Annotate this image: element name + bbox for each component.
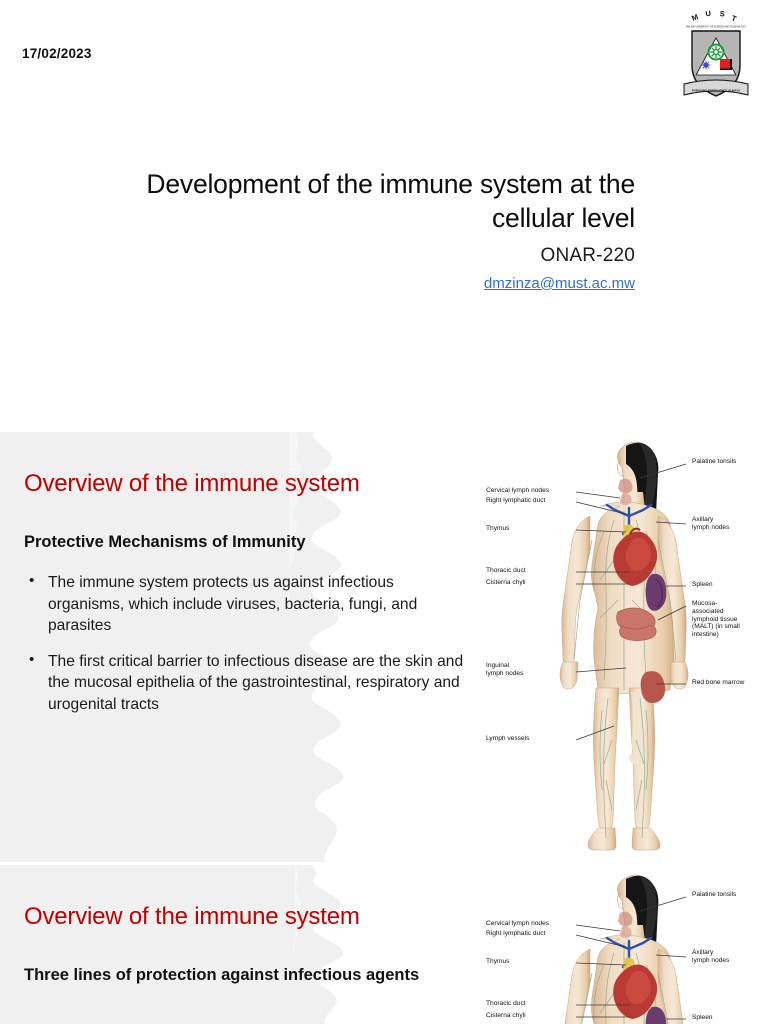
figure-label-cervical-lymph-nodes: Cervical lymph nodes xyxy=(486,487,549,495)
slide-subheading: Three lines of protection against infect… xyxy=(24,965,454,987)
email-link[interactable]: dmzinza@must.ac.mw xyxy=(484,275,635,292)
figure-label-cervical-lymph-nodes: Cervical lymph nodes xyxy=(486,920,549,928)
must-university-crest-logo: M U S T MALAWI UNIVERSITY OF SCIENCE AND… xyxy=(676,8,756,108)
svg-text:T: T xyxy=(730,13,738,23)
page-title: Development of the immune system at the … xyxy=(95,168,635,236)
lymphatic-system-figure: Palatine tonsils Axillary lymph nodes Sp… xyxy=(480,873,768,1024)
figure-label-cisterna-chyli: Cisterna chyli xyxy=(486,1012,526,1020)
title-block: Development of the immune system at the … xyxy=(95,168,635,293)
title-slide: 17/02/2023 M U S T MALAWI UNIVERSITY OF … xyxy=(0,0,768,432)
figure-label-right-lymphatic-duct: Right lymphatic duct xyxy=(486,497,545,505)
figure-label-lymph-vessels: Lymph vessels xyxy=(486,735,529,743)
slide-overview-three-lines: Overview of the immune system Three line… xyxy=(0,865,768,1024)
figure-label-malt: Mucosa- associated lymphoid tissue (MALT… xyxy=(692,600,740,639)
figure-label-inguinal-lymph-nodes: Inguinal lymph nodes xyxy=(486,662,523,678)
slide-overview-protective-mechanisms: Overview of the immune system Protective… xyxy=(0,432,768,862)
crest-letters: M U S T xyxy=(690,9,738,24)
svg-text:PURSUING EXCELLENCE ALWAYS: PURSUING EXCELLENCE ALWAYS xyxy=(692,89,740,93)
slide-heading: Overview of the immune system xyxy=(24,470,360,498)
figure-label-palatine-tonsils: Palatine tonsils xyxy=(692,891,736,899)
list-item: The first critical barrier to infectious… xyxy=(22,651,474,716)
crest-book-emblem xyxy=(720,59,732,70)
crest-atom-emblem xyxy=(702,61,711,70)
svg-text:U: U xyxy=(705,9,712,19)
lymphatic-system-figure: Palatine tonsils Axillary lymph nodes Sp… xyxy=(480,440,768,860)
list-item: The immune system protects us against in… xyxy=(22,572,474,637)
slide-subheading: Protective Mechanisms of Immunity xyxy=(24,532,444,554)
slide-date: 17/02/2023 xyxy=(22,46,92,61)
figure-label-spleen: Spleen xyxy=(692,1014,713,1022)
figure-label-thoracic-duct: Thoracic duct xyxy=(486,1000,526,1008)
figure-label-red-bone-marrow: Red bone marrow xyxy=(692,679,744,687)
slide-heading: Overview of the immune system xyxy=(24,903,360,931)
body-illustration xyxy=(562,875,687,1024)
figure-label-cisterna-chyli: Cisterna chyli xyxy=(486,579,526,587)
figure-label-thoracic-duct: Thoracic duct xyxy=(486,567,526,575)
figure-label-thymus: Thymus xyxy=(486,958,509,966)
figure-label-axillary-lymph-nodes: Axillary lymph nodes xyxy=(692,516,729,532)
figure-label-thymus: Thymus xyxy=(486,525,509,533)
body-illustration xyxy=(560,442,688,850)
course-code: ONAR-220 xyxy=(95,245,635,267)
svg-text:S: S xyxy=(719,9,725,18)
bullet-list: The immune system protects us against in… xyxy=(22,572,474,729)
svg-text:MALAWI UNIVERSITY OF SCIENCE A: MALAWI UNIVERSITY OF SCIENCE AND TECHNOL… xyxy=(686,26,747,29)
figure-label-palatine-tonsils: Palatine tonsils xyxy=(692,458,736,466)
figure-label-right-lymphatic-duct: Right lymphatic duct xyxy=(486,930,545,938)
torn-brush-edge-decoration xyxy=(255,865,445,1024)
svg-text:M: M xyxy=(690,12,699,23)
figure-label-axillary-lymph-nodes: Axillary lymph nodes xyxy=(692,949,729,965)
figure-label-spleen: Spleen xyxy=(692,581,713,589)
